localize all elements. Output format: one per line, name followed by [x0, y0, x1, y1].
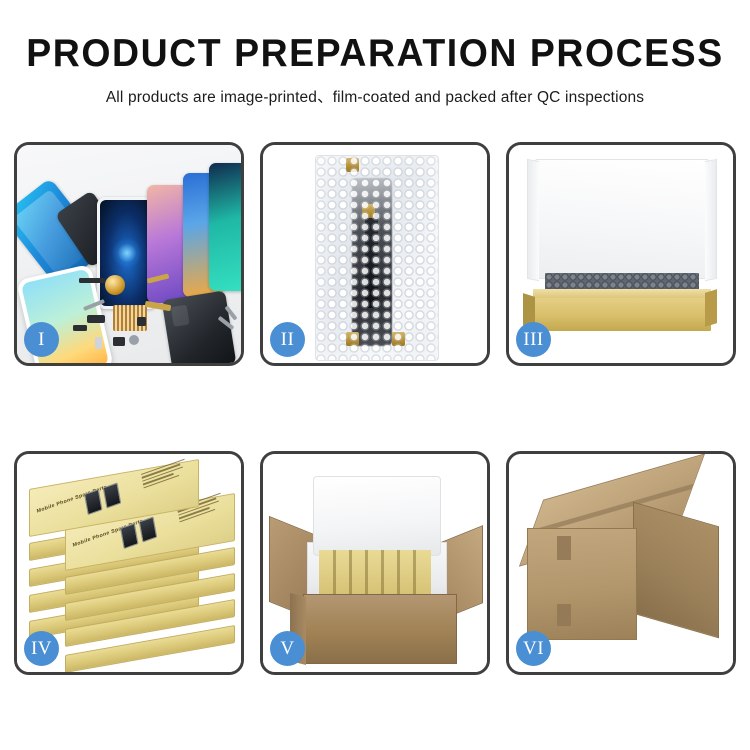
small-part: [79, 278, 105, 283]
process-step-grid: I II III: [14, 142, 736, 675]
process-step-card-3[interactable]: III: [506, 142, 736, 366]
process-step-card-4[interactable]: Mobile Phone Spare Parts: [14, 451, 244, 675]
chip-image: [84, 489, 103, 515]
step-badge-4: IV: [24, 631, 59, 666]
chip-image: [103, 482, 122, 508]
box-label-chip-images: [84, 481, 125, 515]
connector: [392, 332, 405, 346]
kraft-box-side: [705, 289, 717, 327]
page-title: PRODUCT PREPARATION PROCESS: [15, 34, 735, 75]
box-lid-open: [535, 159, 709, 279]
foam-lid: [313, 476, 441, 556]
process-step-card-2[interactable]: II: [260, 142, 490, 366]
gold-component: [105, 275, 125, 295]
small-part: [87, 315, 105, 323]
carton-front-face: [527, 528, 637, 640]
process-step-card-6[interactable]: VI: [506, 451, 736, 675]
process-step-card-1[interactable]: I: [14, 142, 244, 366]
flex-cable: [365, 212, 378, 308]
carton-side-face: [633, 502, 719, 639]
step-badge-3: III: [516, 322, 551, 357]
kraft-box-base: [533, 297, 711, 331]
box-label-chip-images: [120, 515, 161, 549]
packing-tape-upper: [557, 536, 571, 560]
small-part: [137, 317, 146, 326]
small-part: [73, 325, 87, 331]
connector: [346, 332, 359, 346]
bubble-wrap-bag: [315, 155, 439, 361]
teal-phone: [209, 163, 241, 291]
connector: [346, 158, 359, 172]
carton-body: [303, 594, 457, 664]
step-badge-5: V: [270, 631, 305, 666]
step-badge-2: II: [270, 322, 305, 357]
small-part: [95, 337, 102, 349]
page-header: PRODUCT PREPARATION PROCESS All products…: [0, 0, 750, 107]
process-step-card-5[interactable]: V: [260, 451, 490, 675]
chip-image: [139, 516, 158, 542]
phone-back-housing: [162, 290, 237, 363]
small-part: [129, 335, 139, 345]
small-part: [113, 337, 125, 346]
chip-image: [120, 523, 139, 549]
packing-tape-lower: [557, 604, 571, 626]
page-subtitle: All products are image-printed、film-coat…: [0, 85, 750, 107]
step-badge-1: I: [24, 322, 59, 357]
yellow-boxes-inside: [319, 550, 431, 594]
connector: [362, 204, 375, 218]
step-badge-6: VI: [516, 631, 551, 666]
